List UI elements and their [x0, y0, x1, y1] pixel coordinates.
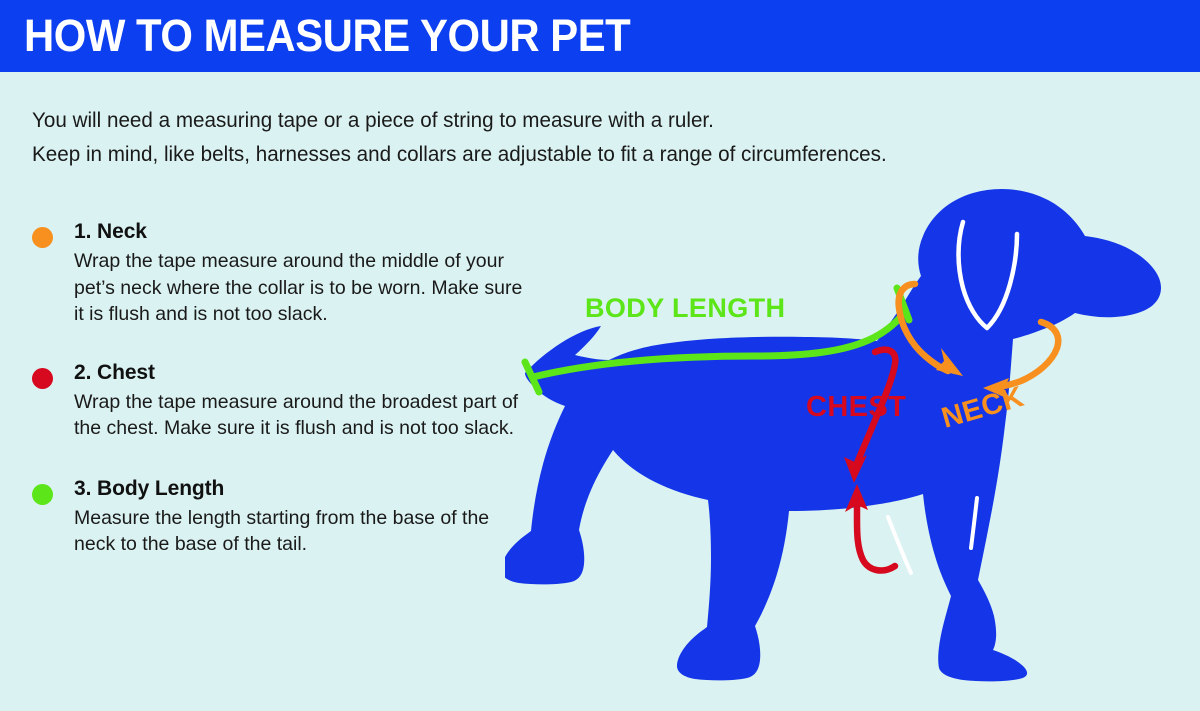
- step-description-body-length: Measure the length starting from the bas…: [74, 505, 534, 558]
- header-bar: HOW TO MEASURE YOUR PET: [0, 0, 1200, 72]
- bullet-icon-body-length: [32, 484, 53, 505]
- list-item-chest: 2. Chest Wrap the tape measure around th…: [30, 359, 550, 442]
- step-title-chest: 2. Chest: [74, 359, 550, 387]
- page-title: HOW TO MEASURE YOUR PET: [24, 8, 630, 64]
- step-description-neck: Wrap the tape measure around the middle …: [74, 248, 534, 328]
- intro-text: You will need a measuring tape or a piec…: [32, 103, 1021, 171]
- dog-body-shape: [505, 189, 1161, 681]
- list-item-body-length: 3. Body Length Measure the length starti…: [30, 475, 550, 558]
- dog-measurement-illustration: BODY LENGTH CHEST NECK: [505, 180, 1200, 710]
- bullet-icon-neck: [32, 227, 53, 248]
- intro-line-2: Keep in mind, like belts, harnesses and …: [32, 137, 1021, 171]
- chest-girth-lower-arrow: [857, 498, 895, 571]
- intro-line-1: You will need a measuring tape or a piec…: [32, 103, 1021, 137]
- step-title-neck: 1. Neck: [74, 218, 550, 246]
- step-title-body-length: 3. Body Length: [74, 475, 550, 503]
- annotation-label-chest: CHEST: [806, 391, 906, 423]
- measurement-steps-list: 1. Neck Wrap the tape measure around the…: [30, 218, 550, 588]
- list-item-neck: 1. Neck Wrap the tape measure around the…: [30, 218, 550, 328]
- annotation-label-body-length: BODY LENGTH: [585, 293, 785, 323]
- step-description-chest: Wrap the tape measure around the broades…: [74, 389, 534, 442]
- dog-silhouette-icon: [505, 189, 1161, 681]
- bullet-icon-chest: [32, 368, 53, 389]
